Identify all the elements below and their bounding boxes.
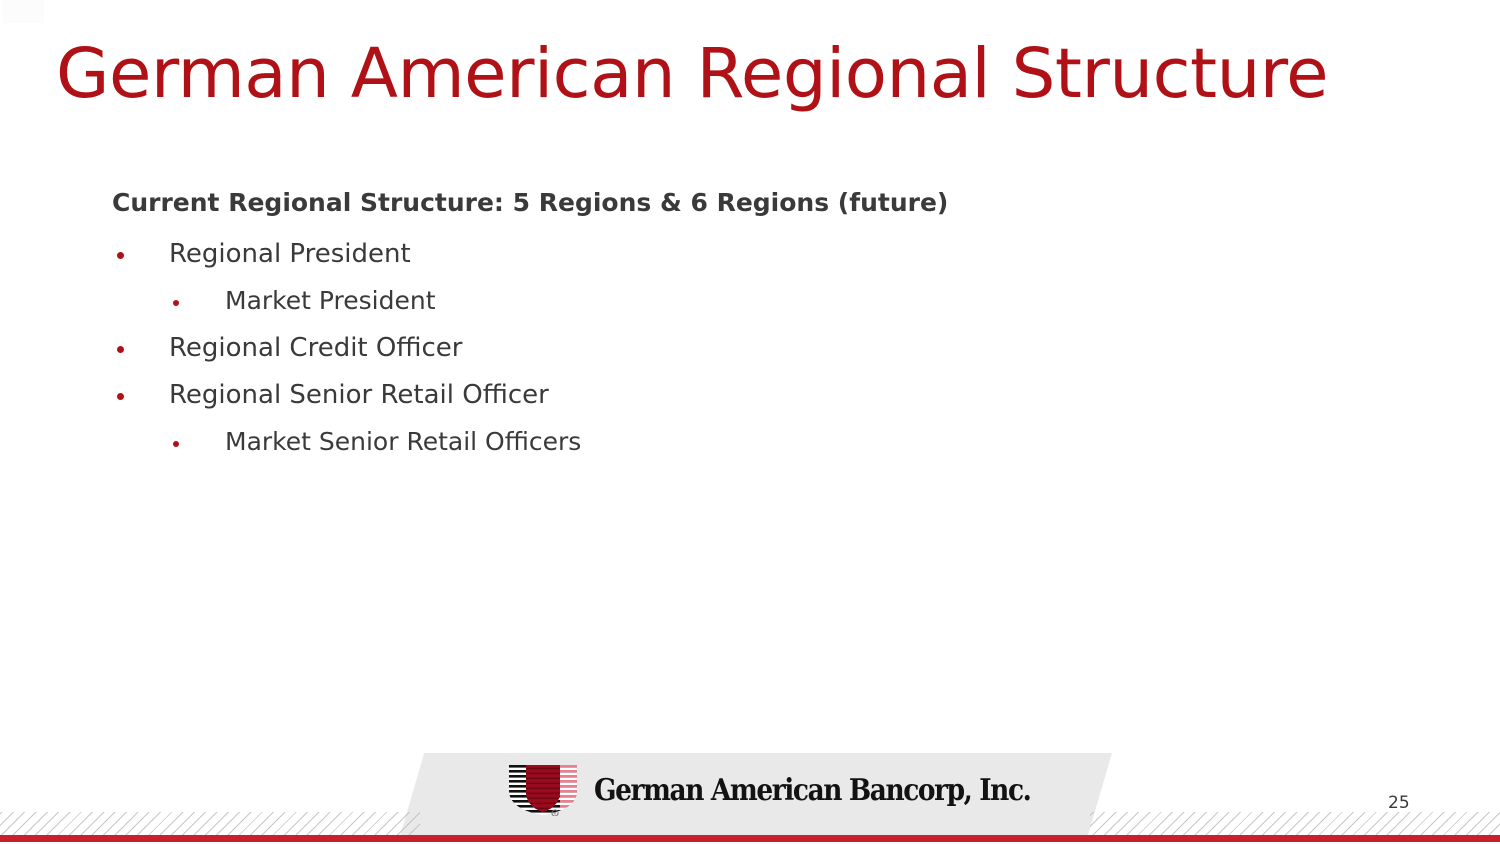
list-item: Market Senior Retail Officers bbox=[112, 422, 1312, 469]
body-heading: Current Regional Structure: 5 Regions & … bbox=[112, 190, 1312, 215]
company-logo: R German American Bancorp, Inc. bbox=[506, 762, 1090, 818]
list-item: Regional President bbox=[112, 234, 1312, 281]
bullet-dot-icon bbox=[117, 393, 124, 400]
corner-decoration bbox=[2, 0, 44, 23]
slide-body: Current Regional Structure: 5 Regions & … bbox=[112, 190, 1312, 469]
list-item: Market President bbox=[112, 281, 1312, 328]
list-item: Regional Credit Officer bbox=[112, 328, 1312, 375]
german-american-shield-icon: R bbox=[506, 764, 580, 816]
svg-text:R: R bbox=[554, 812, 557, 816]
list-item-label: Market Senior Retail Officers bbox=[225, 427, 581, 456]
list-item: Regional Senior Retail Officer bbox=[112, 375, 1312, 422]
page-number: 25 bbox=[1388, 793, 1410, 813]
presentation-slide: German American Regional Structure Curre… bbox=[0, 0, 1500, 844]
hatch-pattern-right bbox=[1090, 812, 1500, 836]
bottom-accent-rule bbox=[0, 835, 1500, 842]
logo-wordmark: German American Bancorp, Inc. bbox=[594, 773, 1030, 808]
bullet-dot-icon bbox=[173, 441, 179, 447]
bullet-dot-icon bbox=[173, 300, 179, 306]
list-item-label: Regional President bbox=[169, 239, 411, 269]
bullet-list: Regional President Market President Regi… bbox=[112, 234, 1312, 469]
list-item-label: Regional Credit Officer bbox=[169, 333, 462, 363]
hatch-pattern-left bbox=[0, 812, 420, 836]
list-item-label: Regional Senior Retail Officer bbox=[169, 380, 549, 410]
list-item-label: Market President bbox=[225, 286, 436, 315]
bullet-dot-icon bbox=[117, 346, 124, 353]
page-title: German American Regional Structure bbox=[56, 40, 1328, 109]
bullet-dot-icon bbox=[117, 252, 124, 259]
